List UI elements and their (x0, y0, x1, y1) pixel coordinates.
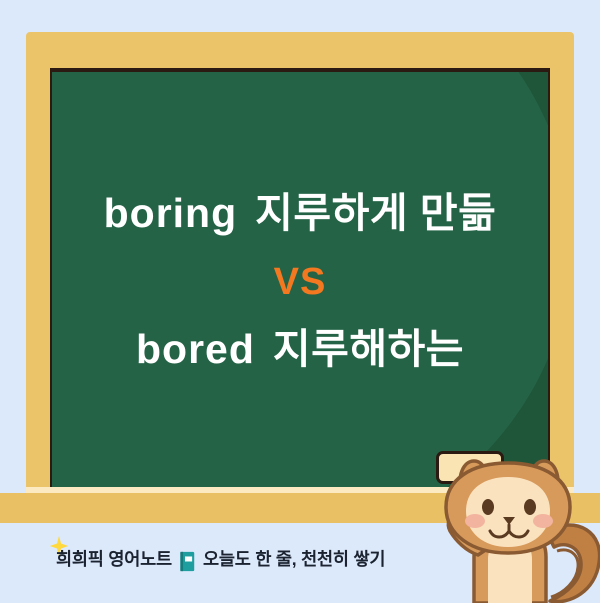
board-line-1-english: boring (104, 190, 238, 236)
versus-label: VS (274, 263, 327, 301)
board-line-2-korean: 지루해하는 (273, 326, 464, 372)
caption-brand: 희희픽 영어노트 (56, 546, 172, 571)
board-line-2-english: bored (136, 326, 255, 372)
squirrel-eye-right (524, 499, 536, 515)
board-content: boring지루하게 만듦 VS bored지루해하는 (52, 72, 548, 492)
squirrel-cheek-left (465, 514, 485, 528)
board-frame-right (550, 68, 574, 492)
squirrel-eye-left (482, 499, 494, 515)
board-frame-left (26, 68, 50, 492)
board-line-1-korean: 지루하게 만듦 (255, 190, 496, 236)
board-line-bored: bored지루해하는 (136, 327, 464, 373)
board-frame-top (26, 32, 574, 68)
caption-bar: 희희픽 영어노트 오늘도 한 줄, 천천히 쌓기 (56, 546, 385, 571)
chalkboard: boring지루하게 만듦 VS bored지루해하는 (26, 32, 574, 494)
card-canvas: boring지루하게 만듦 VS bored지루해하는 희희픽 영어노트 오늘도… (0, 0, 600, 600)
notebook-icon (179, 551, 196, 572)
board-line-boring: boring지루하게 만듦 (104, 191, 497, 237)
squirrel-mascot (418, 455, 600, 603)
board-surface: boring지루하게 만듦 VS bored지루해하는 (52, 72, 548, 492)
caption-tagline: 오늘도 한 줄, 천천히 쌓기 (203, 546, 385, 571)
squirrel-cheek-right (533, 514, 553, 528)
